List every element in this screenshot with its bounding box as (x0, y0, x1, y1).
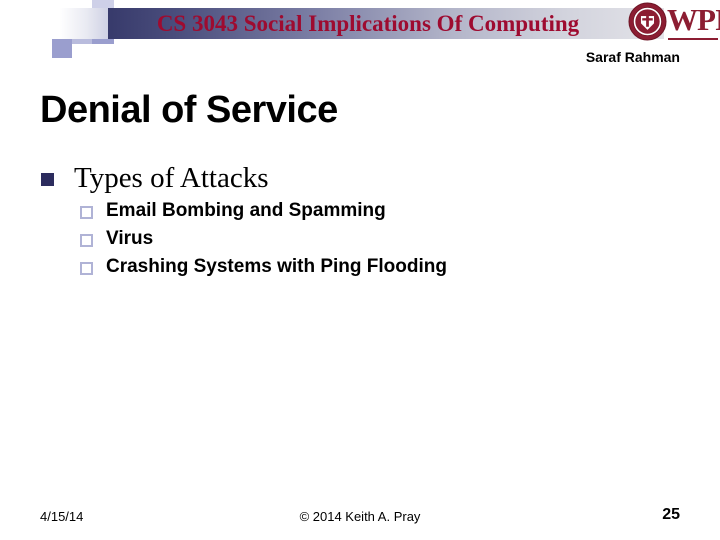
footer-page-number: 25 (662, 506, 680, 524)
bullet-level1-label: Types of Attacks (74, 162, 269, 194)
wpi-wordmark: WPI (667, 3, 720, 37)
footer-copyright: © 2014 Keith A. Pray (0, 509, 720, 524)
filled-square-bullet-icon (41, 173, 54, 186)
hollow-square-bullet-icon (80, 234, 93, 247)
bullet-level2-item: Virus (78, 225, 680, 253)
header-bar-fade (0, 8, 108, 39)
bullet-level2-label: Virus (106, 228, 153, 249)
bullet-level2-item: Email Bombing and Spamming (78, 197, 680, 225)
slide-body: Types of Attacks Email Bombing and Spamm… (40, 160, 680, 281)
presenter-name: Saraf Rahman (586, 49, 680, 65)
decorative-square-5 (52, 38, 72, 58)
wpi-underline (668, 38, 718, 40)
bullet-level2-label: Email Bombing and Spamming (106, 200, 386, 221)
bullet-level2-label: Crashing Systems with Ping Flooding (106, 256, 447, 277)
page-title: Denial of Service (40, 88, 338, 132)
slide-canvas: CS 3043 Social Implications Of Computing… (0, 0, 720, 540)
bullet-level1-item: Types of Attacks (40, 160, 680, 196)
wpi-seal-icon (628, 2, 667, 41)
course-title: CS 3043 Social Implications Of Computing (108, 7, 628, 40)
wpi-logo: WPI (628, 1, 718, 43)
bullet-level2-item: Crashing Systems with Ping Flooding (78, 253, 680, 281)
hollow-square-bullet-icon (80, 206, 93, 219)
hollow-square-bullet-icon (80, 262, 93, 275)
